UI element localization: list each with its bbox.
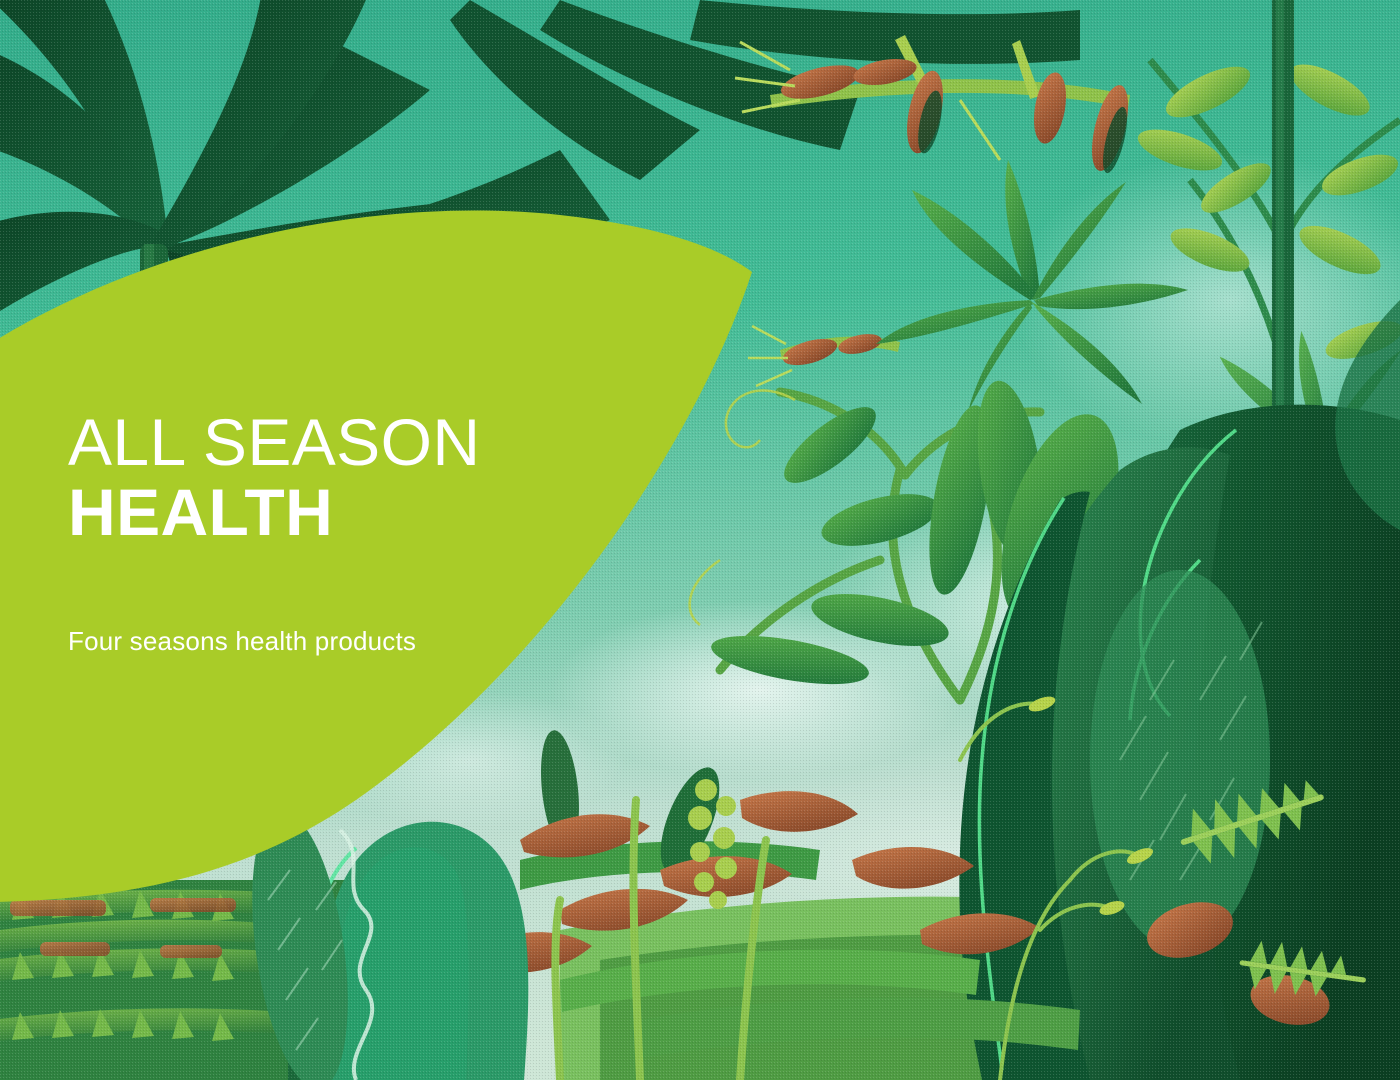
page-title: ALL SEASON HEALTH	[68, 408, 628, 548]
headline-line-1: ALL SEASON	[68, 408, 628, 478]
headline-block: ALL SEASON HEALTH Four seasons health pr…	[68, 408, 628, 657]
headline-line-2: HEALTH	[68, 478, 628, 548]
poster-canvas: ALL SEASON HEALTH Four seasons health pr…	[0, 0, 1400, 1080]
subheadline: Four seasons health products	[68, 626, 628, 657]
